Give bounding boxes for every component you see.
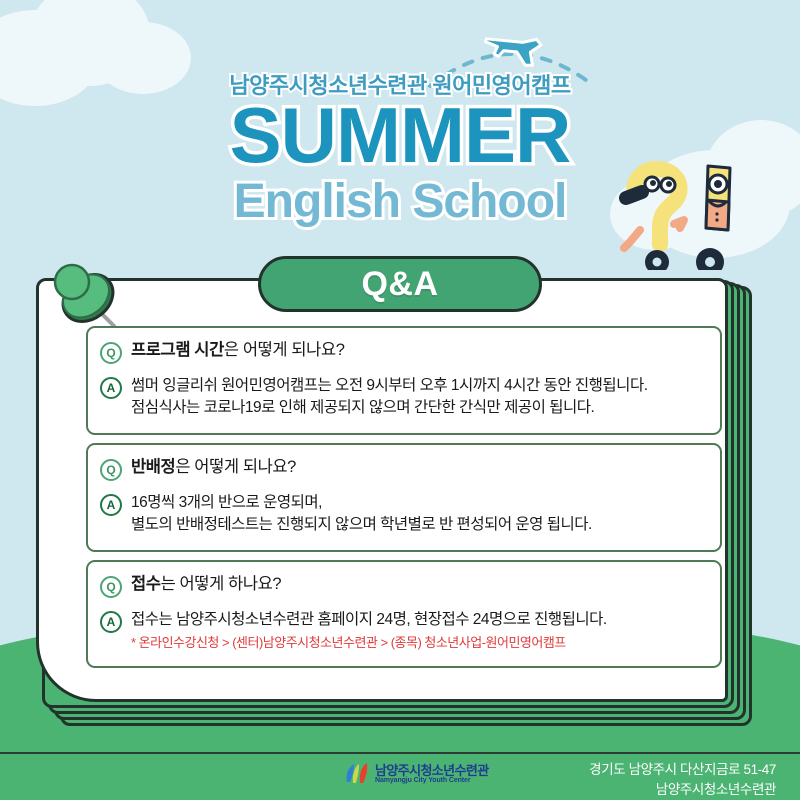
question-text: 프로그램 시간은 어떻게 되나요? [131,340,344,361]
logo-english-name: Namyangju City Youth Center [375,777,489,784]
qa-banner: Q&A [258,256,542,312]
answer-text: 접수는 남양주시청소년수련관 홈페이지 24명, 현장접수 24명으로 진행됩니… [131,609,607,653]
question-badge: Q [100,576,122,598]
qa-block: Q 접수는 어떻게 하나요? A 접수는 남양주시청소년수련관 홈페이지 24명… [86,560,722,668]
answer-row: A 16명씩 3개의 반으로 운영되며, 별도의 반배정테스트는 진행되지 않으… [100,492,706,537]
answer-line: 접수는 남양주시청소년수련관 홈페이지 24명, 현장접수 24명으로 진행됩니… [131,609,607,631]
logo-korean-name: 남양주시청소년수련관 [375,764,489,778]
answer-badge: A [100,494,122,516]
answer-note: * 온라인수강신청 > (센터)남양주시청소년수련관 > (종목) 청소년사업-… [131,634,607,653]
qa-list: Q 프로그램 시간은 어떻게 되나요? A 썸머 잉글리쉬 원어민영어캠프는 오… [86,326,722,676]
answer-text: 16명씩 3개의 반으로 운영되며, 별도의 반배정테스트는 진행되지 않으며 … [131,492,592,537]
answer-line: 썸머 잉글리쉬 원어민영어캠프는 오전 9시부터 오후 1시까지 4시간 동안 … [131,375,648,397]
footer-address: 경기도 남양주시 다산지금로 51-47 남양주시청소년수련관 [589,760,776,799]
question-text: 반배정은 어떻게 되나요? [131,457,296,478]
question-badge: Q [100,459,122,481]
address-line: 경기도 남양주시 다산지금로 51-47 [589,760,776,780]
qa-block: Q 반배정은 어떻게 되나요? A 16명씩 3개의 반으로 운영되며, 별도의… [86,443,722,552]
youth-center-logo-icon [344,762,370,786]
question-row: Q 접수는 어떻게 하나요? [100,574,706,598]
answer-row: A 썸머 잉글리쉬 원어민영어캠프는 오전 9시부터 오후 1시까지 4시간 동… [100,375,706,420]
answer-badge: A [100,611,122,633]
footer-logo: 남양주시청소년수련관 Namyangju City Youth Center [344,762,489,786]
answer-row: A 접수는 남양주시청소년수련관 홈페이지 24명, 현장접수 24명으로 진행… [100,609,706,653]
pushpin-icon [48,258,124,336]
address-line: 남양주시청소년수련관 [589,780,776,800]
question-keyword: 접수 [131,575,161,593]
question-row: Q 프로그램 시간은 어떻게 되나요? [100,340,706,364]
answer-text: 썸머 잉글리쉬 원어민영어캠프는 오전 9시부터 오후 1시까지 4시간 동안 … [131,375,648,420]
answer-line: 16명씩 3개의 반으로 운영되며, [131,492,592,514]
question-keyword: 프로그램 시간 [131,341,224,359]
question-exclamation-mascot-icon [612,158,772,270]
question-rest: 은 어떻게 되나요? [175,458,296,476]
question-badge: Q [100,342,122,364]
question-rest: 은 어떻게 되나요? [224,341,345,359]
answer-line: 별도의 반배정테스트는 진행되지 않으며 학년별로 반 편성되어 운영 됩니다. [131,514,592,536]
question-text: 접수는 어떻게 하나요? [131,574,281,595]
answer-line: 점심식사는 코로나19로 인해 제공되지 않으며 간단한 간식만 제공이 됩니다… [131,397,648,419]
question-keyword: 반배정 [131,458,175,476]
qa-block: Q 프로그램 시간은 어떻게 되나요? A 썸머 잉글리쉬 원어민영어캠프는 오… [86,326,722,435]
question-row: Q 반배정은 어떻게 되나요? [100,457,706,481]
footer: 남양주시청소년수련관 Namyangju City Youth Center 경… [0,752,800,800]
poster-canvas: 남양주시청소년수련관 원어민영어캠프 SUMMER English School [0,0,800,800]
answer-badge: A [100,377,122,399]
question-rest: 는 어떻게 하나요? [161,575,282,593]
logo-text: 남양주시청소년수련관 Namyangju City Youth Center [375,764,489,785]
